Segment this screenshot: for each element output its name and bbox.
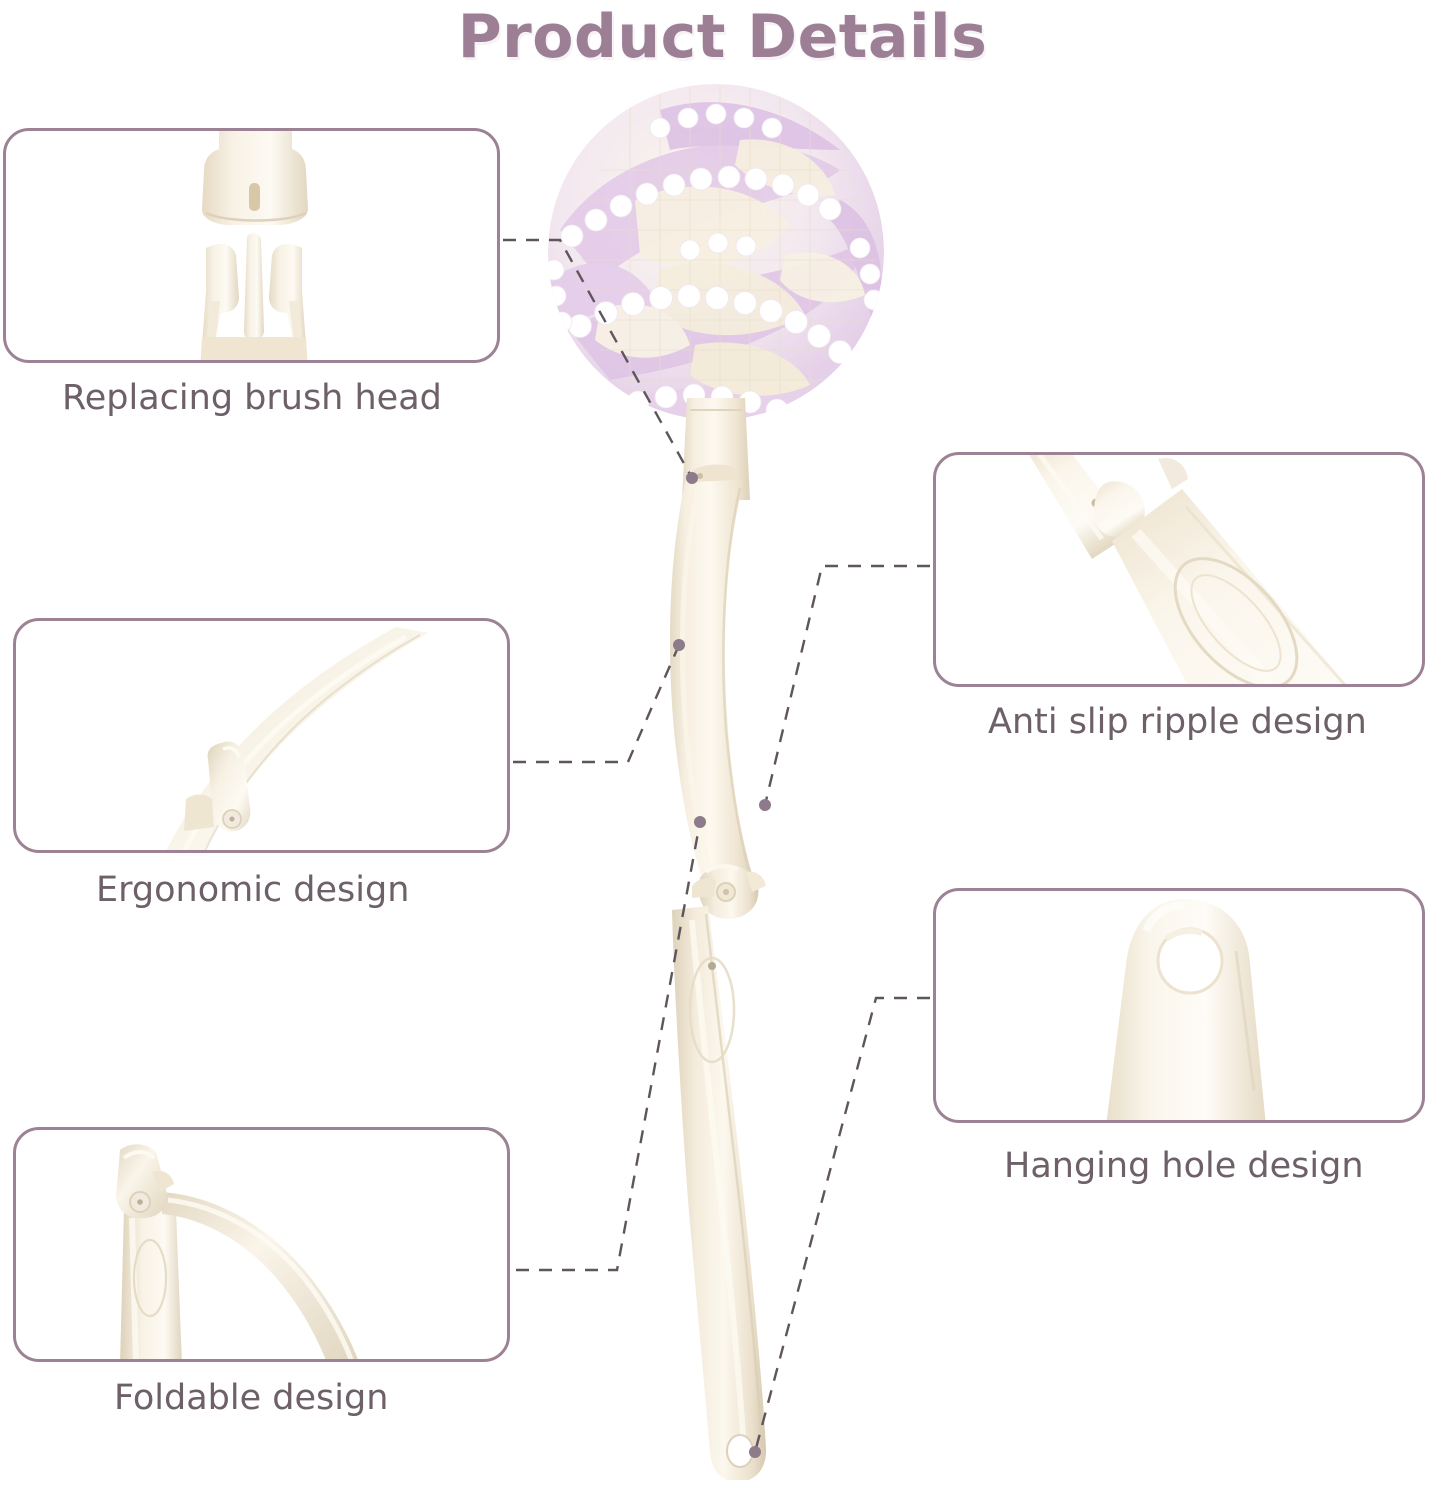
ripple-grip-icon [936, 455, 1422, 684]
brush-head-connector-icon [6, 131, 497, 360]
feature-card-anti-slip-ripple-design[interactable] [933, 452, 1425, 687]
card-label-ergonomic-design: Ergonomic design [96, 870, 409, 910]
feature-card-hanging-hole-design[interactable] [933, 888, 1425, 1123]
card-label-hanging-hole-design: Hanging hole design [1004, 1146, 1364, 1186]
card-image-anti-slip-ripple-design [936, 455, 1422, 684]
card-image-hanging-hole-design [936, 891, 1422, 1120]
card-image-ergonomic-design [16, 621, 507, 850]
feature-card-replacing-brush-head[interactable] [3, 128, 500, 363]
hanging-hole-icon [936, 891, 1422, 1120]
page-title: Product Details [0, 2, 1445, 72]
card-label-foldable-design: Foldable design [114, 1378, 388, 1418]
lower-handle-grip [672, 906, 766, 1480]
card-image-replacing-brush-head [6, 131, 497, 360]
product-illustration [540, 80, 970, 1480]
product-details-infographic: Product Details [0, 0, 1445, 1492]
upper-handle [670, 465, 754, 886]
feature-card-ergonomic-design[interactable] [13, 618, 510, 853]
loofah-mesh-ball [544, 84, 885, 442]
feature-card-foldable-design[interactable] [13, 1127, 510, 1362]
card-image-foldable-design [16, 1130, 507, 1359]
folded-handle-hinge-icon [16, 1130, 507, 1359]
hanging-hole [727, 1435, 753, 1467]
curved-handle-icon [16, 621, 507, 850]
card-label-anti-slip-ripple-design: Anti slip ripple design [988, 702, 1367, 742]
card-label-replacing-brush-head: Replacing brush head [62, 378, 442, 418]
